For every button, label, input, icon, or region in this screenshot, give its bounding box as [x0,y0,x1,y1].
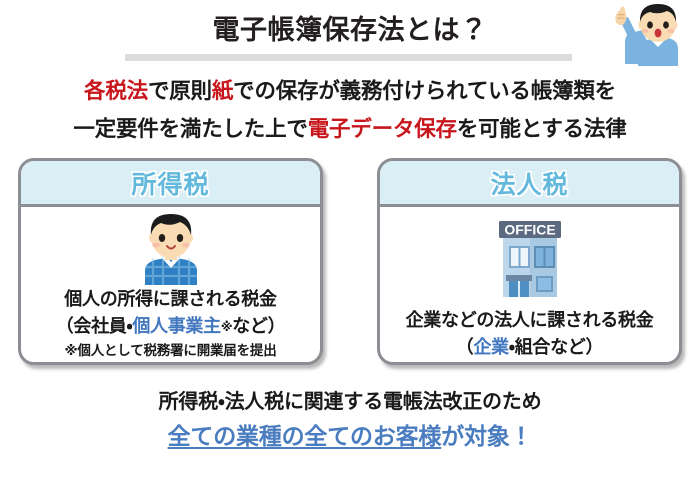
card-income-tax-line2-close: など） [232,316,285,336]
card-corporate-tax-body: OFFICE 企業などの法人に課される税金 [380,207,679,365]
lead-highlight-edata: 電子データ保存 [308,117,457,141]
card-corporate-tax-line-1: 企業などの法人に課される税金 [380,307,679,334]
card-corporate-tax-header: 法人税 [380,161,679,207]
card-corporate-tax-line2-open: （ [456,337,474,357]
card-income-tax-line-1: 個人の所得に課される税金 [21,286,320,313]
card-income-tax-highlight: 個人事業主 [132,316,221,336]
lead-text-2c: を可能とする法律 [457,117,627,141]
card-income-tax-note: ※個人として税務署に開業届を提出 [21,341,320,361]
title-underline-rule [125,54,572,61]
card-corporate-tax-line2-close: ・組合など） [509,337,603,357]
footer-line-1: 所得税・法人税に関連する電帳法改正のため [0,387,700,417]
lead-highlight-paper: 紙 [212,79,233,103]
footer-conclusion: 所得税・法人税に関連する電帳法改正のため 全ての業種の全てのお客様が対象！ [0,387,700,453]
card-income-tax-line2-open: （会社員・ [56,316,133,336]
card-corporate-tax: 法人税 OFFICE [377,158,682,365]
card-income-tax-illustration [21,211,320,285]
office-sign-label: OFFICE [504,222,555,238]
card-corporate-tax-text: 企業などの法人に課される税金 （企業・組合など） [380,307,679,361]
lead-line-2: 一定要件を満たした上で電子データ保存を可能とする法律 [0,110,700,148]
footer-tail-text: が対象！ [441,423,532,449]
lead-statement: 各税法で原則紙での保存が義務付けられている帳簿類を 一定要件を満たした上で電子デ… [0,72,700,148]
card-corporate-tax-illustration: OFFICE [380,211,679,297]
lead-text-2a: 一定要件を満たした上で [73,117,307,141]
card-income-tax-line-2: （会社員・個人事業主※など） [21,313,320,341]
card-income-tax-text: 個人の所得に課される税金 （会社員・個人事業主※など） ※個人として税務署に開業… [21,286,320,361]
lead-text-1d: での保存が義務付けられている帳簿類を [233,79,616,103]
lead-text-1b: で原則 [148,79,212,103]
card-income-tax: 所得税 [18,158,323,365]
header: 電子帳簿保存法とは？ [0,0,700,68]
lead-line-1: 各税法で原則紙での保存が義務付けられている帳簿類を [0,72,700,110]
card-corporate-tax-line-2: （企業・組合など） [380,334,679,361]
tax-type-cards: 所得税 [0,158,700,373]
card-income-tax-body: 個人の所得に課される税金 （会社員・個人事業主※など） ※個人として税務署に開業… [21,207,320,365]
card-corporate-tax-title: 法人税 [490,165,568,201]
card-corporate-tax-highlight: 企業 [473,337,508,357]
office-building-icon: OFFICE [487,211,573,297]
footer-underlined-text: 全ての業種の全てのお客様 [168,423,442,449]
card-income-tax-header: 所得税 [21,161,320,207]
lead-highlight-tax-laws: 各税法 [84,79,148,103]
person-icon [133,211,209,285]
page-title: 電子帳簿保存法とは？ [0,8,700,47]
pointing-man-icon [598,2,694,66]
footer-line-2: 全ての業種の全てのお客様が対象！ [0,419,700,453]
card-income-tax-footnote-mark: ※ [221,320,232,334]
card-income-tax-title: 所得税 [131,165,209,201]
